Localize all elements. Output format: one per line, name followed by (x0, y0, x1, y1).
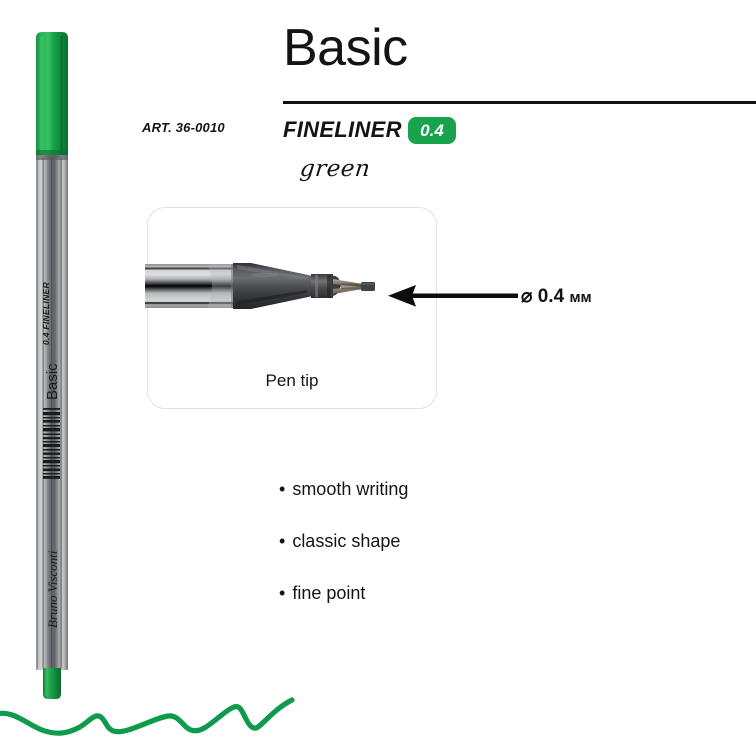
pen-tip-photo (145, 255, 400, 317)
measure-value: 0.4 (538, 286, 564, 307)
list-item: •smooth writing (279, 479, 408, 500)
ink-squiggle (0, 694, 320, 756)
barrel-brand-text: Bruno Visconti (45, 550, 60, 628)
product-type-label: FINELINER (283, 117, 402, 143)
measure-label: ⌀ 0.4 мм (521, 285, 592, 308)
title-divider (283, 101, 756, 104)
list-item: •fine point (279, 583, 365, 604)
feature-label: classic shape (292, 531, 400, 551)
list-item: •classic shape (279, 531, 400, 552)
status-badge: 0.4 (408, 117, 456, 144)
pen-tip-caption: Pen tip (147, 371, 437, 391)
diameter-symbol: ⌀ (521, 286, 532, 307)
tip-grip-cone (233, 263, 313, 309)
barrel-size-text: 0.4 FINELINER (41, 281, 51, 345)
pen-barrel: 0.4 FINELINER Basic (36, 155, 68, 670)
color-name-script: green (299, 156, 372, 182)
pen-cap (36, 32, 68, 155)
bullet-icon: • (279, 531, 285, 551)
product-infographic: 0.4 FINELINER Basic (0, 0, 756, 756)
feature-label: smooth writing (292, 479, 408, 499)
feature-label: fine point (292, 583, 365, 603)
measure-arrow-icon (388, 280, 518, 312)
tip-ferrule (311, 274, 341, 298)
bullet-icon: • (279, 583, 285, 603)
article-number: ART. 36-0010 (142, 120, 225, 135)
measure-unit: мм (569, 289, 591, 306)
page-title: Basic (283, 22, 408, 74)
pen-illustration: 0.4 FINELINER Basic (0, 0, 120, 720)
barrel-model-text: Basic (44, 363, 61, 400)
bullet-icon: • (279, 479, 285, 499)
tip-barrel-section (145, 264, 237, 308)
